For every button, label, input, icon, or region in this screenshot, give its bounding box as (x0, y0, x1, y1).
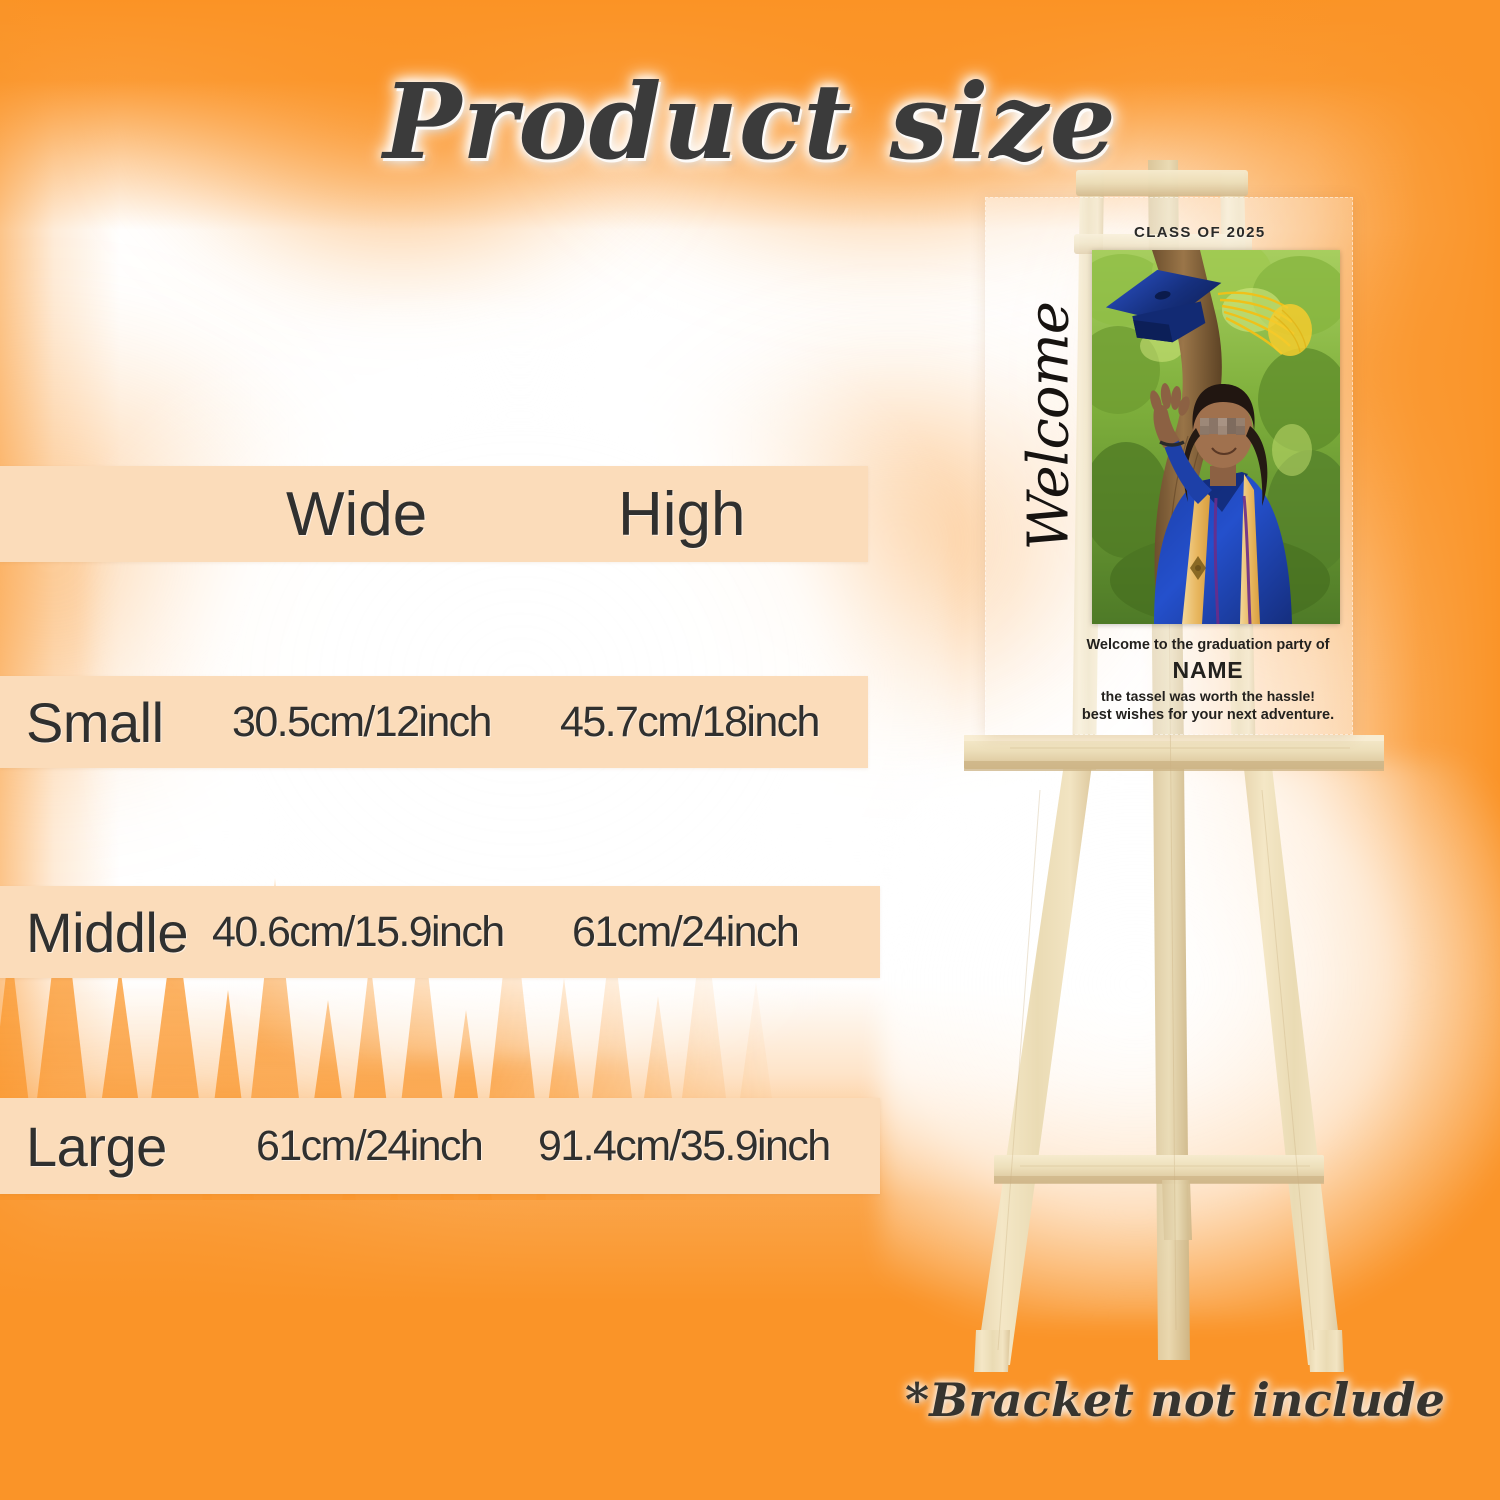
size-label-middle: Middle (26, 900, 188, 965)
table-row: Large 61cm/24inch 91.4cm/35.9inch (0, 1098, 880, 1194)
table-row: Small 30.5cm/12inch 45.7cm/18inch (0, 676, 868, 768)
column-header-high: High (618, 479, 746, 550)
size-label-small: Small (26, 690, 164, 755)
size-small-high-value: 45.7cm/18inch (560, 698, 819, 747)
table-row: Middle 40.6cm/15.9inch 61cm/24inch (0, 886, 880, 978)
class-of-text: CLASS OF 2025 (1134, 224, 1266, 241)
size-label-large: Large (26, 1114, 167, 1179)
bracket-disclaimer: *Bracket not include (905, 1373, 1445, 1427)
caption-line-3: the tassel was worth the hassle! (1070, 687, 1346, 705)
graduate-photo (1092, 250, 1340, 624)
caption-line-1: Welcome to the graduation party of (1070, 636, 1346, 655)
size-large-wide-value: 61cm/24inch (256, 1122, 482, 1171)
size-middle-high-value: 61cm/24inch (572, 908, 798, 957)
welcome-script-text: Welcome (1017, 321, 1082, 551)
size-table-header-row: Wide High (0, 466, 868, 562)
acrylic-welcome-sign: CLASS OF 2025 Welcome (985, 197, 1353, 735)
size-middle-wide-value: 40.6cm/15.9inch (212, 908, 504, 957)
caption-name-field: NAME (1070, 656, 1346, 686)
column-header-wide: Wide (286, 479, 427, 550)
poster-caption: Welcome to the graduation party of NAME … (1070, 636, 1346, 725)
size-large-high-value: 91.4cm/35.9inch (538, 1122, 830, 1171)
bracket-disclaimer-text: *Bracket not include (905, 1373, 1445, 1427)
caption-line-4: best wishes for your next adventure. (1070, 706, 1346, 725)
size-small-wide-value: 30.5cm/12inch (232, 698, 491, 747)
